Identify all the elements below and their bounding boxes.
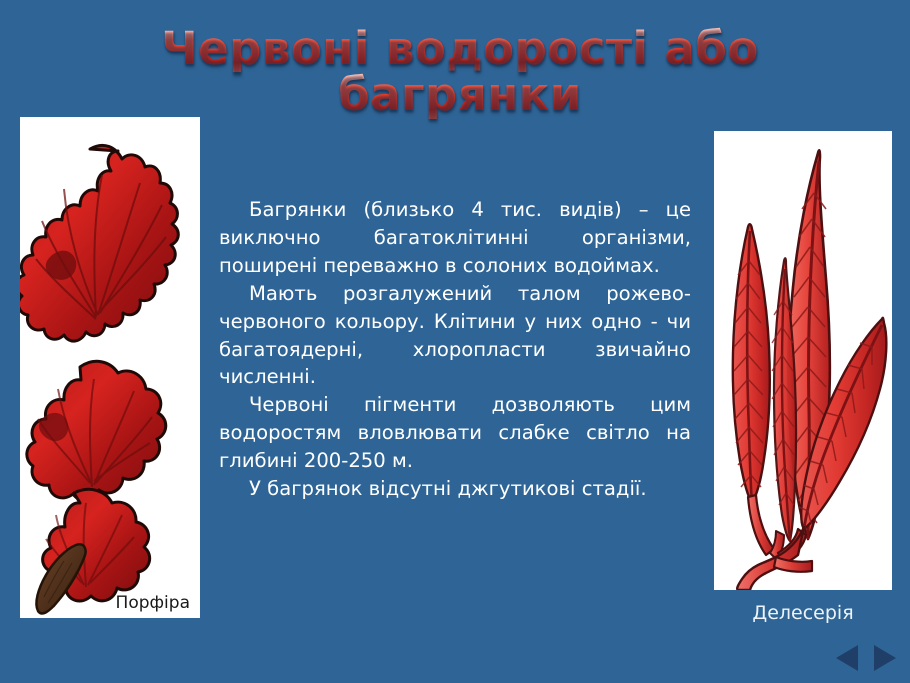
page-title-line-1: Червоні водорості або: [150, 26, 770, 72]
page-title: Червоні водорості або багрянки: [150, 26, 770, 119]
paragraph-3: Червоні пігменти дозволяють цим водорост…: [219, 391, 691, 475]
delesseria-seaweed-illustration: [714, 131, 892, 590]
paragraph-2: Мають розгалужений талом рожево-червоног…: [219, 280, 691, 392]
next-slide-button[interactable]: [874, 645, 896, 671]
body-text: Багрянки (близько 4 тис. видів) – це вик…: [219, 196, 691, 503]
figure-delesseria: [714, 131, 892, 590]
page-title-line-2: багрянки: [150, 72, 770, 118]
slide-navigation: [836, 645, 896, 671]
paragraph-4: У багрянок відсутні джгутикові стадії.: [219, 475, 691, 503]
figure-porphyra: Порфіра: [20, 117, 200, 618]
slide-canvas: Червоні водорості або багрянки: [0, 0, 910, 683]
figure-caption-porphyra: Порфіра: [116, 593, 190, 613]
paragraph-1: Багрянки (близько 4 тис. видів) – це вик…: [219, 196, 691, 280]
previous-slide-button[interactable]: [836, 645, 858, 671]
porphyra-seaweed-illustration: [20, 117, 200, 618]
figure-caption-delesseria: Делесерія: [714, 602, 892, 624]
